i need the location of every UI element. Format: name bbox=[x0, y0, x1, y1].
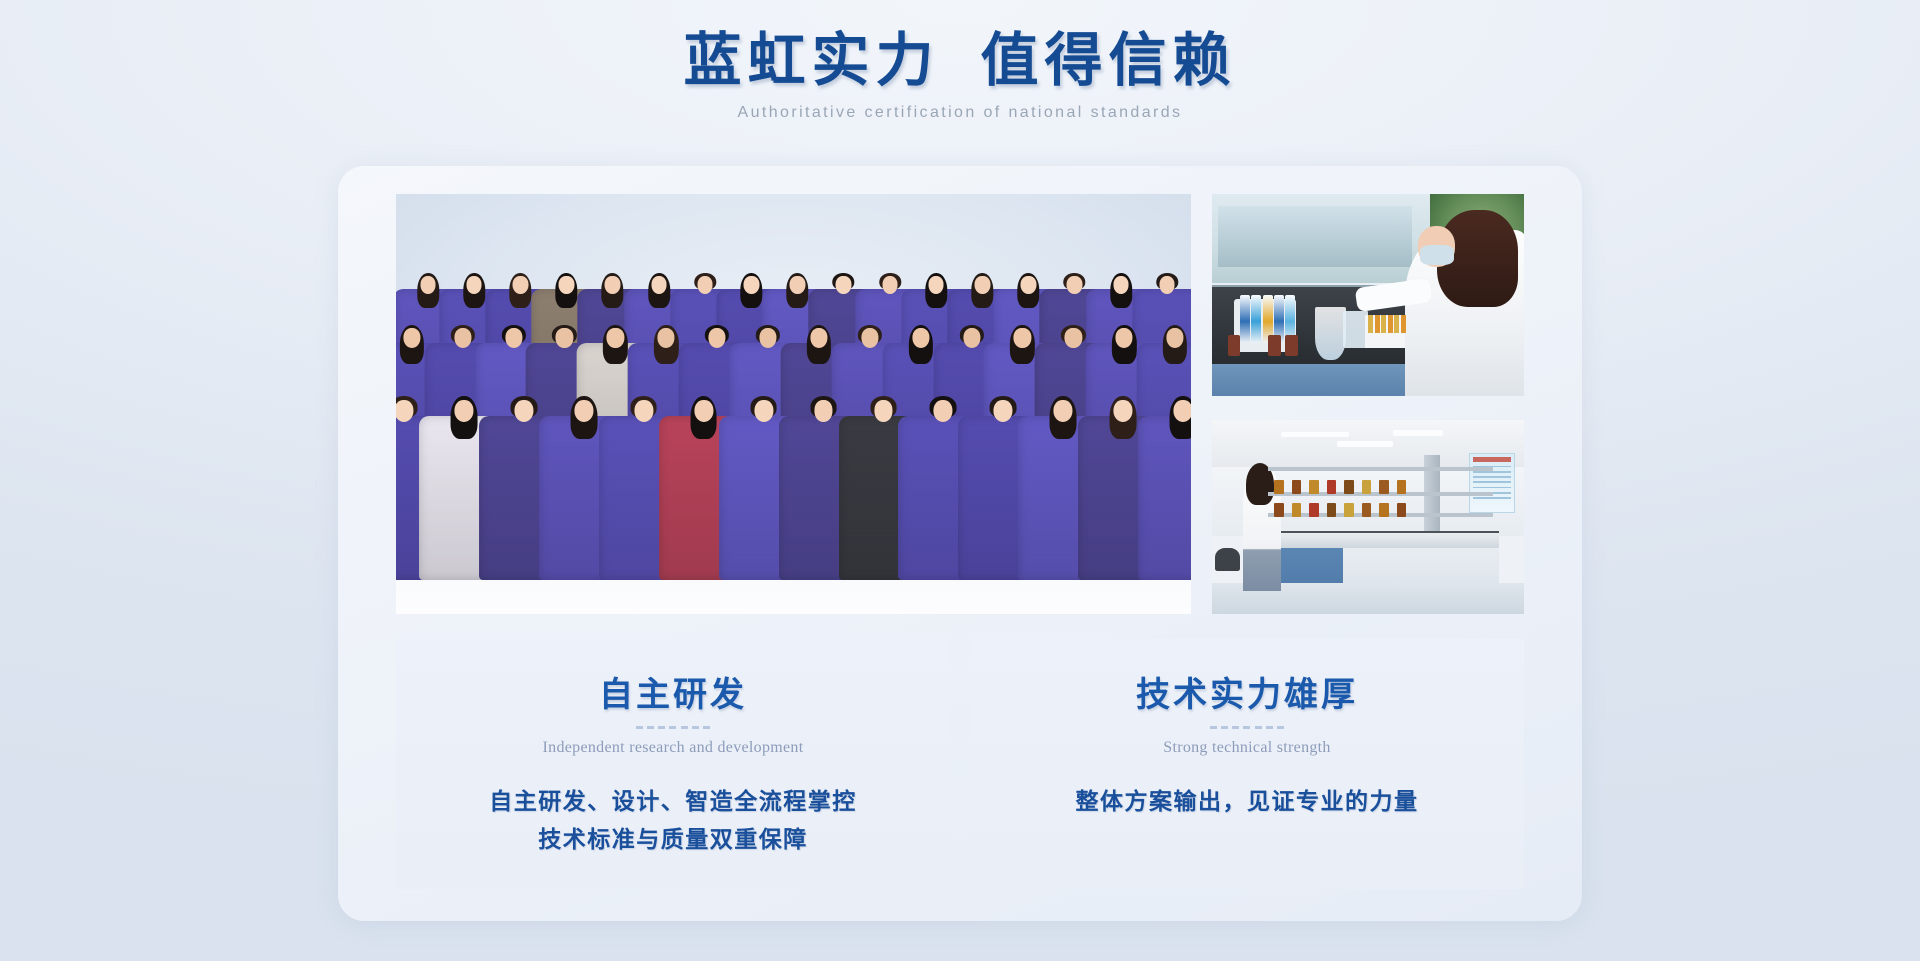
team-member-face bbox=[454, 328, 471, 348]
lab-glass-partition bbox=[1218, 206, 1411, 267]
sample-vial bbox=[1375, 315, 1380, 333]
sample-vial bbox=[1381, 315, 1386, 333]
reagent-bottle bbox=[1362, 503, 1371, 517]
team-member-face bbox=[759, 328, 776, 348]
sample-vial bbox=[1368, 315, 1373, 333]
team-member-face bbox=[697, 276, 713, 294]
promo-page: 蓝虹实力 值得信赖 Authoritative certification of… bbox=[0, 0, 1920, 961]
team-member-face bbox=[754, 400, 773, 422]
feature-card-independent-rd[interactable]: 自主研发 Independent research and developmen… bbox=[396, 639, 950, 889]
team-member-face bbox=[874, 400, 893, 422]
safety-poster bbox=[1469, 453, 1515, 513]
laboratory-room-photo bbox=[1212, 420, 1524, 614]
team-member-face bbox=[882, 276, 898, 294]
media-gallery bbox=[396, 194, 1524, 614]
team-member-face bbox=[861, 328, 878, 348]
team-member-face bbox=[634, 400, 653, 422]
reagent-bottle bbox=[1285, 335, 1297, 355]
team-member-face bbox=[512, 276, 528, 294]
reagent-bottle bbox=[1268, 335, 1280, 355]
reagent-bottle bbox=[1344, 480, 1353, 494]
team-member-face bbox=[1174, 400, 1191, 422]
card-title: 技术实力雄厚 bbox=[970, 639, 1524, 716]
ceiling-lamp bbox=[1393, 430, 1443, 436]
card-body-line: 技术标准与质量双重保障 bbox=[396, 821, 950, 859]
page-header: 蓝虹实力 值得信赖 Authoritative certification of… bbox=[0, 28, 1920, 122]
team-member-face bbox=[975, 276, 991, 294]
team-member-face bbox=[836, 276, 852, 294]
card-english-subtitle: Strong technical strength bbox=[970, 739, 1524, 757]
reagent-bottle bbox=[1228, 335, 1240, 355]
team-member-face bbox=[1113, 276, 1129, 294]
team-member-face bbox=[810, 328, 827, 348]
team-photo-people bbox=[396, 266, 1191, 592]
page-subtitle: Authoritative certification of national … bbox=[0, 104, 1920, 122]
team-member-face bbox=[709, 328, 726, 348]
reagent-bottle bbox=[1309, 503, 1318, 517]
ceiling-lamp bbox=[1281, 432, 1350, 438]
reagent-shelf bbox=[1268, 467, 1493, 471]
team-member-face bbox=[607, 328, 624, 348]
team-member-face bbox=[1114, 400, 1133, 422]
card-divider-dots bbox=[1210, 726, 1284, 730]
team-member-face bbox=[1054, 400, 1073, 422]
poster-title-bar bbox=[1473, 457, 1511, 462]
team-member-face bbox=[556, 328, 573, 348]
technician-mask bbox=[1420, 245, 1454, 265]
team-member-face bbox=[1159, 276, 1175, 294]
team-member-face bbox=[994, 400, 1013, 422]
volumetric-flask bbox=[1315, 307, 1346, 360]
team-member bbox=[1140, 396, 1191, 579]
sample-vial bbox=[1394, 315, 1399, 333]
reagent-bottle bbox=[1327, 503, 1336, 517]
card-english-subtitle: Independent research and development bbox=[396, 739, 950, 757]
poster-text-line bbox=[1473, 481, 1511, 483]
reagent-bottle bbox=[1344, 503, 1353, 517]
team-member-face bbox=[396, 400, 413, 422]
team-group-photo bbox=[396, 194, 1191, 614]
team-member-face bbox=[1014, 328, 1031, 348]
lab-technician-photo bbox=[1212, 194, 1524, 396]
reagent-bottle bbox=[1292, 480, 1301, 494]
team-member-face bbox=[574, 400, 593, 422]
card-title: 自主研发 bbox=[396, 639, 950, 716]
team-member-face bbox=[420, 276, 436, 294]
pipette bbox=[1240, 295, 1250, 343]
island-bench bbox=[1256, 533, 1499, 549]
team-member-face bbox=[1021, 276, 1037, 294]
page-title: 蓝虹实力 值得信赖 bbox=[0, 28, 1920, 95]
team-member-face bbox=[814, 400, 833, 422]
team-member-face bbox=[403, 328, 420, 348]
reagent-bottle bbox=[1327, 480, 1336, 494]
team-member-face bbox=[928, 276, 944, 294]
team-member-face bbox=[505, 328, 522, 348]
feature-card-technical-strength[interactable]: 技术实力雄厚 Strong technical strength 整体方案输出，… bbox=[970, 639, 1524, 889]
card-divider-dots bbox=[636, 726, 710, 730]
card-body: 整体方案输出，见证专业的力量 bbox=[970, 783, 1524, 821]
card-body-line: 整体方案输出，见证专业的力量 bbox=[970, 783, 1524, 821]
team-member-face bbox=[658, 328, 675, 348]
poster-text-line bbox=[1473, 497, 1511, 499]
reagent-bottle bbox=[1362, 480, 1371, 494]
team-member-face bbox=[912, 328, 929, 348]
team-member-face bbox=[963, 328, 980, 348]
reagent-bottle bbox=[1309, 480, 1318, 494]
reagent-bottle bbox=[1274, 480, 1283, 494]
feature-cards: 自主研发 Independent research and developmen… bbox=[396, 639, 1524, 889]
team-member-face bbox=[454, 400, 473, 422]
content-panel: 自主研发 Independent research and developmen… bbox=[338, 166, 1582, 921]
pipette bbox=[1251, 295, 1261, 343]
laboratory-room-scene bbox=[1212, 420, 1524, 614]
team-member-face bbox=[605, 276, 621, 294]
team-member-face bbox=[559, 276, 575, 294]
poster-text-line bbox=[1473, 471, 1511, 473]
reagent-bottle bbox=[1397, 503, 1406, 517]
team-member-face bbox=[743, 276, 759, 294]
team-member-face bbox=[694, 400, 713, 422]
reagent-bottle bbox=[1292, 503, 1301, 517]
lab-stool bbox=[1215, 548, 1240, 571]
team-member-face bbox=[790, 276, 806, 294]
team-member-face bbox=[1065, 328, 1082, 348]
poster-text-line bbox=[1473, 487, 1511, 489]
reagent-bottle bbox=[1379, 503, 1388, 517]
team-member-face bbox=[1166, 328, 1183, 348]
team-member-face bbox=[514, 400, 533, 422]
team-member-face bbox=[466, 276, 482, 294]
team-member-uniform bbox=[1138, 416, 1191, 580]
card-body: 自主研发、设计、智造全流程掌控 技术标准与质量双重保障 bbox=[396, 783, 950, 859]
lab-technician-scene bbox=[1212, 194, 1524, 396]
ceiling-lamp bbox=[1337, 441, 1393, 447]
sample-vial bbox=[1401, 315, 1406, 333]
card-body-line: 自主研发、设计、智造全流程掌控 bbox=[396, 783, 950, 821]
reagent-bottle bbox=[1274, 503, 1283, 517]
sample-vial bbox=[1388, 315, 1393, 333]
team-member-face bbox=[651, 276, 667, 294]
reagent-bottle bbox=[1379, 480, 1388, 494]
poster-text-line bbox=[1473, 476, 1511, 478]
team-member-face bbox=[1116, 328, 1133, 348]
team-member-face bbox=[1067, 276, 1083, 294]
reagent-bottle bbox=[1397, 480, 1406, 494]
team-member-face bbox=[934, 400, 953, 422]
